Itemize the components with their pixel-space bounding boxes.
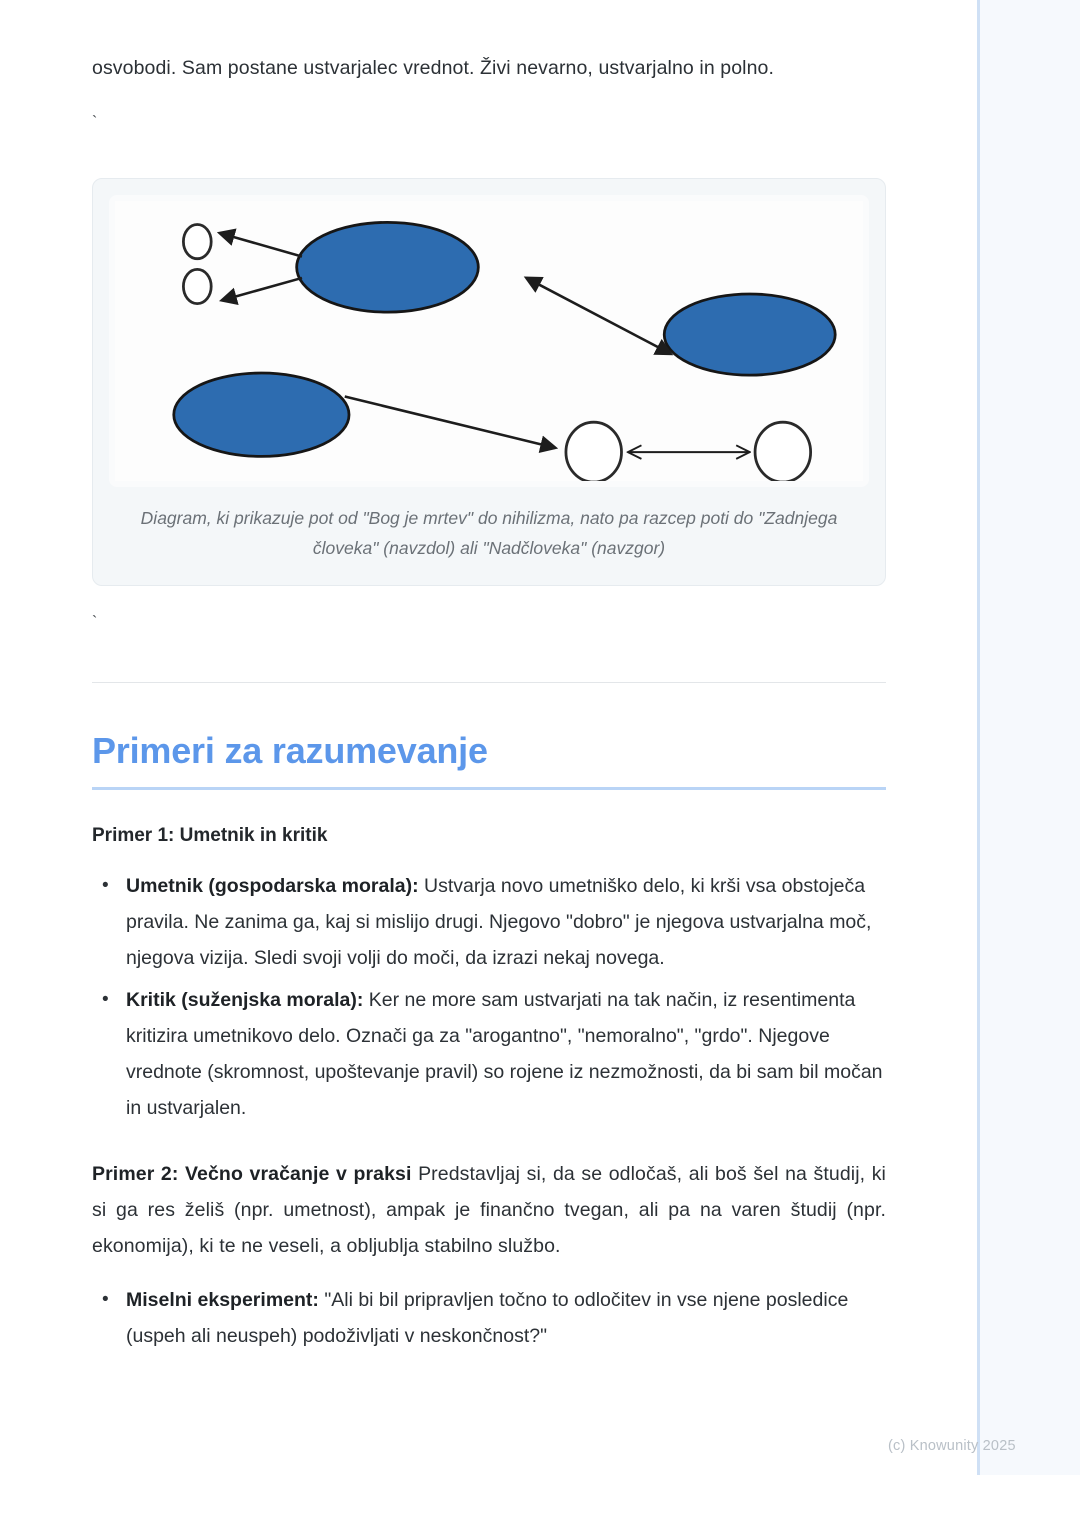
- page-gutter-band: [978, 0, 1080, 1475]
- section-divider: [92, 682, 886, 683]
- example-2-paragraph: Primer 2: Večno vračanje v praksi Predst…: [92, 1156, 886, 1264]
- filled-ellipse-right: [664, 294, 835, 375]
- code-tick-marker-top: `: [92, 112, 886, 134]
- bullet-lead: Kritik (suženjska morala):: [126, 989, 363, 1011]
- open-circle-bottom-2: [755, 422, 811, 481]
- list-item: Miselni eksperiment: "Ali bi bil priprav…: [126, 1282, 886, 1354]
- figure-card: Diagram, ki prikazuje pot od "Bog je mrt…: [92, 178, 886, 586]
- intro-paragraph: osvobodi. Sam postane ustvarjalec vredno…: [92, 0, 886, 86]
- diagram-image: [109, 195, 869, 487]
- example-2-lead: Primer 2: Večno vračanje v praksi: [92, 1163, 412, 1185]
- document-content: osvobodi. Sam postane ustvarjalec vredno…: [0, 0, 978, 1360]
- open-circle-bottom-1: [566, 422, 622, 481]
- figure-caption: Diagram, ki prikazuje pot od "Bog je mrt…: [125, 503, 853, 563]
- filled-ellipse-lower-left: [174, 373, 349, 456]
- bullet-lead: Umetnik (gospodarska morala):: [126, 875, 419, 897]
- document-page: osvobodi. Sam postane ustvarjalec vredno…: [0, 0, 1080, 1528]
- list-item: Umetnik (gospodarska morala): Ustvarja n…: [126, 868, 886, 976]
- nihilism-path-diagram-svg: [115, 201, 863, 481]
- bullet-lead: Miselni eksperiment:: [126, 1289, 319, 1311]
- copyright-watermark: (c) Knowunity 2025: [888, 1438, 1016, 1454]
- open-circle-top-left-2: [183, 269, 211, 303]
- example-2-bullet-list: Miselni eksperiment: "Ali bi bil priprav…: [92, 1282, 886, 1354]
- code-tick-marker-bottom: `: [92, 612, 886, 634]
- list-item: Kritik (suženjska morala): Ker ne more s…: [126, 982, 886, 1126]
- open-circle-top-left-1: [183, 225, 211, 259]
- example-1-bullet-list: Umetnik (gospodarska morala): Ustvarja n…: [92, 868, 886, 1126]
- section-heading: Primeri za razumevanje: [92, 729, 886, 790]
- example-1-title: Primer 1: Umetnik in kritik: [92, 822, 886, 850]
- filled-ellipse-center: [297, 222, 479, 312]
